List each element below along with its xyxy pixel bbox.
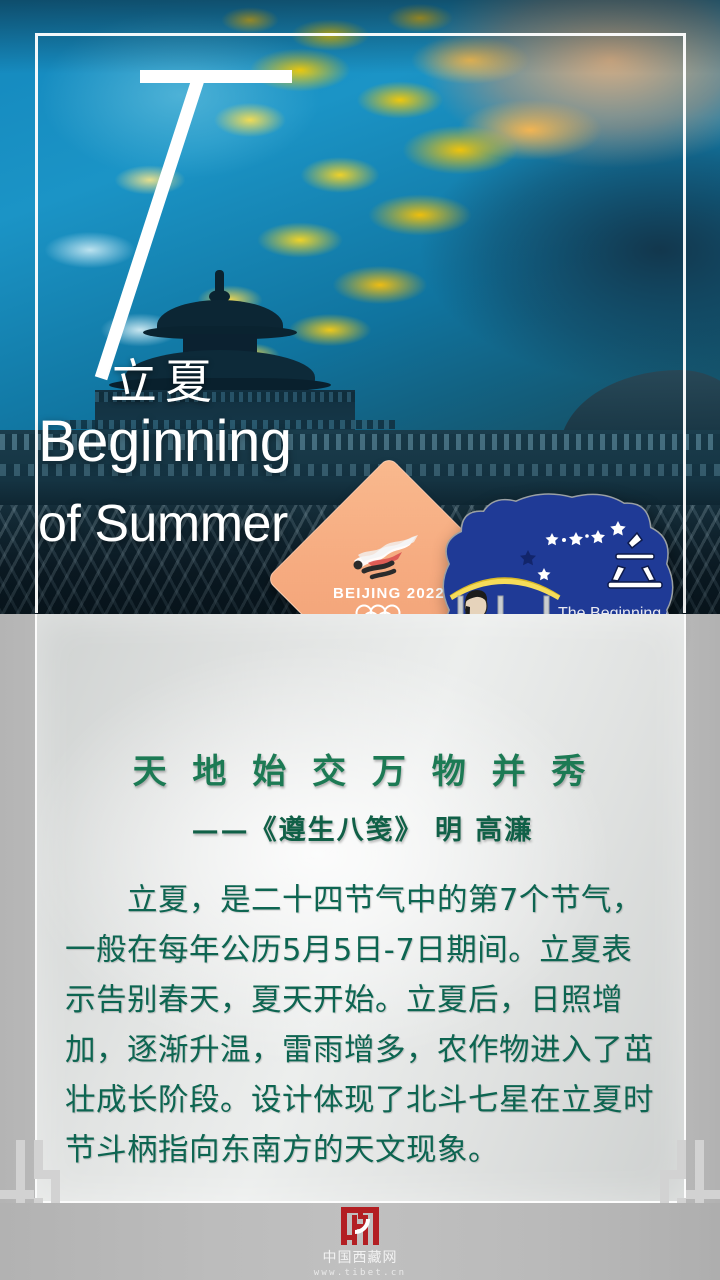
description-body: 立夏，是二十四节气中的第7个节气，一般在每年公历5月5日-7日期间。立夏表示告别… bbox=[65, 876, 663, 1176]
poem-quote: 天 地 始 交 万 物 并 秀 bbox=[37, 744, 688, 793]
solar-term-title-cn: 立夏 bbox=[110, 343, 220, 412]
footer-bar: 中国西藏网 www.tibet.cn bbox=[0, 1203, 720, 1280]
beijing-2022-wordmark: BEIJING 2022 bbox=[333, 585, 445, 602]
seven-top-bar bbox=[140, 70, 292, 83]
site-url: www.tibet.cn bbox=[314, 1267, 407, 1279]
poster-root: 立夏 Beginning of Summer BEIJING 2022 bbox=[0, 0, 720, 1280]
site-name: 中国西藏网 bbox=[323, 1250, 398, 1266]
content-panel: 天 地 始 交 万 物 并 秀 ——《遵生八笺》 明 高濂 立夏，是二十四节气中… bbox=[35, 614, 686, 1203]
china-tibet-net-logo-icon bbox=[338, 1205, 382, 1247]
beijing-2022-emblem-icon bbox=[344, 531, 434, 583]
solar-term-number bbox=[140, 60, 310, 390]
solar-term-title-en-line1: Beginning bbox=[38, 408, 292, 475]
solar-term-title-en-line2: of Summer bbox=[38, 494, 288, 554]
poem-attribution: ——《遵生八笺》 明 高濂 bbox=[37, 808, 688, 847]
